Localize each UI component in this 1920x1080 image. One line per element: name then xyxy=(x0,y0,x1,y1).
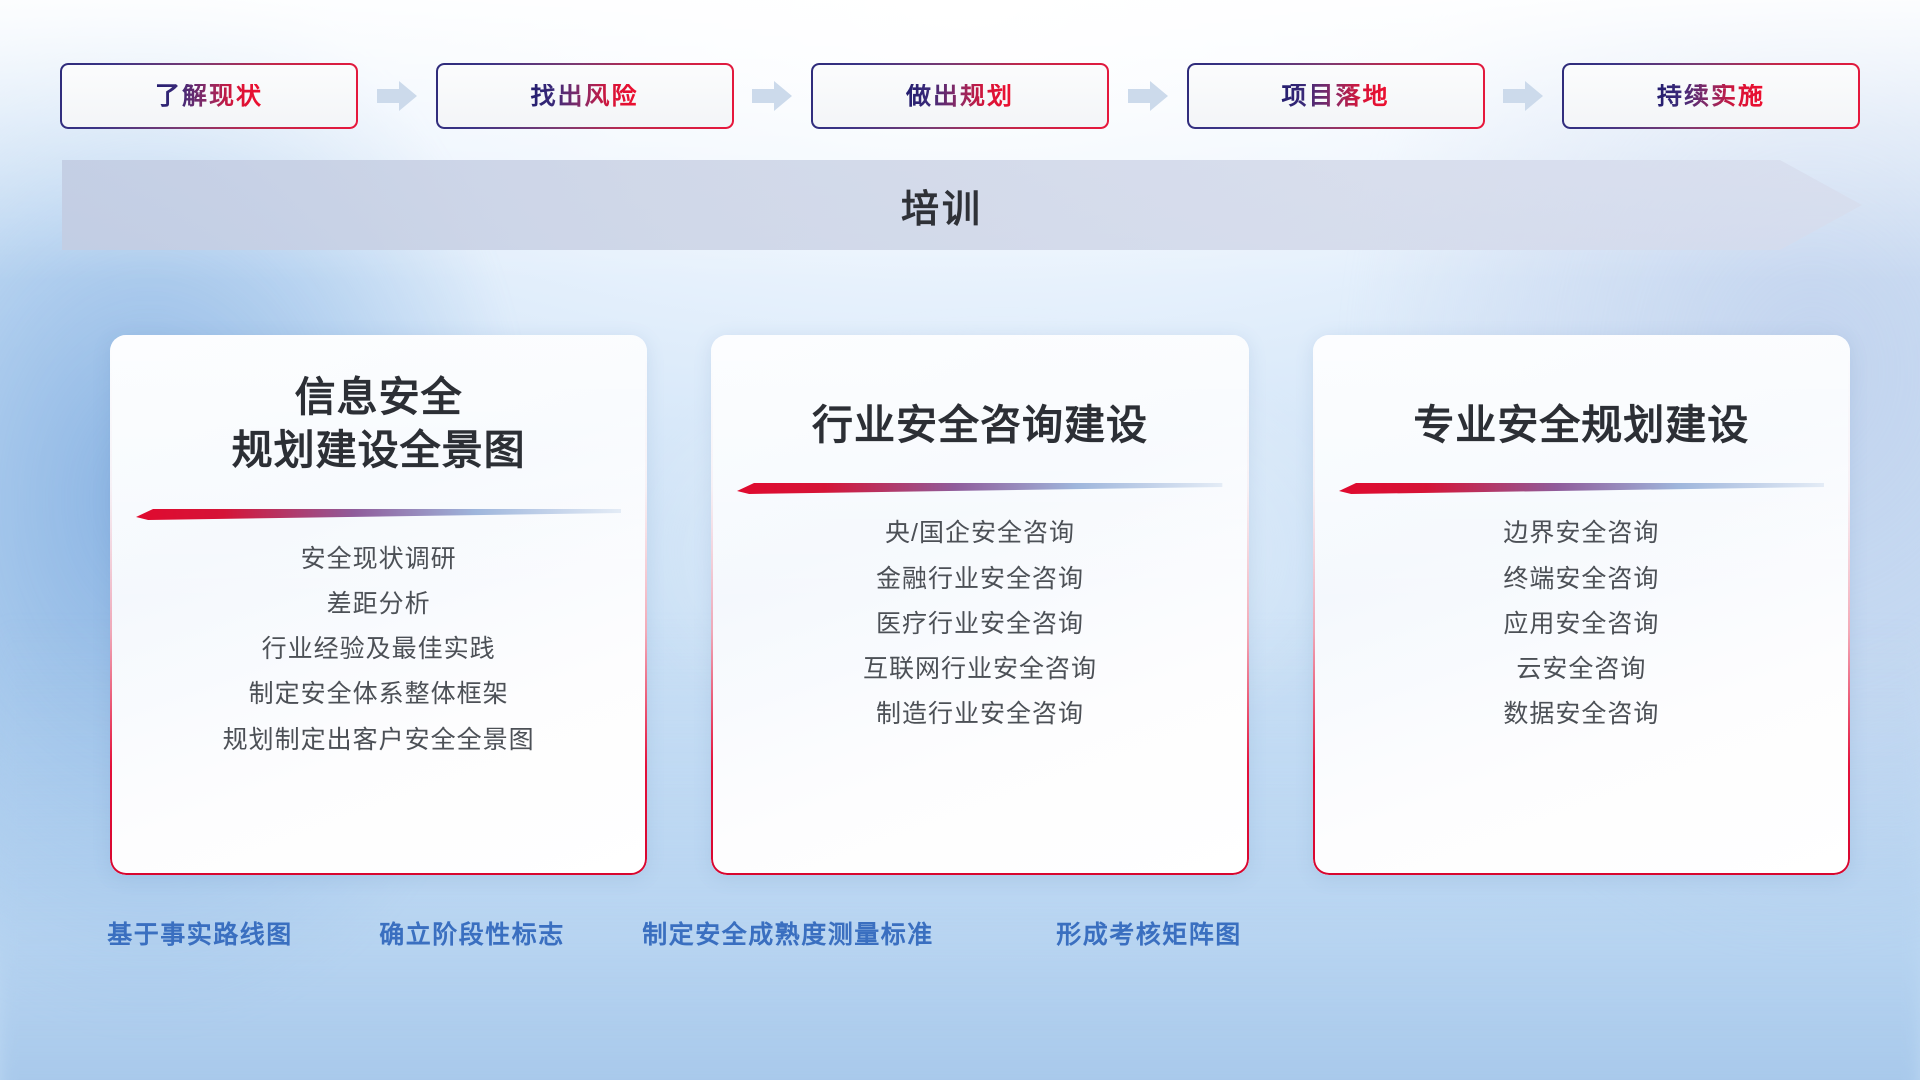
card-title: 行业安全咨询建设 xyxy=(812,371,1148,452)
list-item: 制造行业安全咨询 xyxy=(876,699,1084,730)
list-item: 医疗行业安全咨询 xyxy=(876,609,1084,640)
bottom-label-4: 形成考核矩阵图 xyxy=(1056,915,1242,951)
list-item: 边界安全咨询 xyxy=(1503,518,1659,549)
card-item-list: 央/国企安全咨询 金融行业安全咨询 医疗行业安全咨询 互联网行业安全咨询 制造行… xyxy=(737,518,1222,730)
bottom-label-2: 确立阶段性标志 xyxy=(379,915,565,951)
process-steps-row: 了解现状 找出风险 做出规划 项目落地 持续实施 xyxy=(60,62,1860,130)
list-item: 差距分析 xyxy=(327,589,431,620)
card-title: 专业安全规划建设 xyxy=(1413,371,1749,452)
step-box-5[interactable]: 持续实施 xyxy=(1562,63,1860,129)
card-divider xyxy=(737,480,1222,494)
card-professional-security-planning[interactable]: 专业安全规划建设 边界安全咨询 xyxy=(1313,335,1850,875)
list-item: 制定安全体系整体框架 xyxy=(249,679,509,710)
training-banner: 培训 xyxy=(62,160,1862,250)
card-item-list: 安全现状调研 差距分析 行业经验及最佳实践 制定安全体系整体框架 规划制定出客户… xyxy=(136,544,621,756)
bottom-label-3: 制定安全成熟度测量标准 xyxy=(642,915,934,951)
list-item: 规划制定出客户安全全景图 xyxy=(223,725,535,756)
step-label-5: 持续实施 xyxy=(1657,84,1765,109)
arrow-right-icon xyxy=(1503,79,1543,113)
list-item: 应用安全咨询 xyxy=(1503,609,1659,640)
cards-row: 信息安全 规划建设全景图 安全现状调研 xyxy=(110,335,1850,875)
step-label-3: 做出规划 xyxy=(906,84,1014,109)
card-item-list: 边界安全咨询 终端安全咨询 应用安全咨询 云安全咨询 数据安全咨询 xyxy=(1339,518,1824,730)
list-item: 央/国企安全咨询 xyxy=(885,518,1075,549)
card-divider xyxy=(1339,480,1824,494)
step-box-2[interactable]: 找出风险 xyxy=(436,63,734,129)
list-item: 互联网行业安全咨询 xyxy=(863,654,1097,685)
training-banner-label: 培训 xyxy=(62,160,1822,250)
step-label-1: 了解现状 xyxy=(155,84,263,109)
list-item: 安全现状调研 xyxy=(301,544,457,575)
step-label-2: 找出风险 xyxy=(530,84,638,109)
bottom-labels-row: 基于事实路线图 确立阶段性标志 制定安全成熟度测量标准 形成考核矩阵图 xyxy=(0,915,1920,961)
card-industry-security-consulting[interactable]: 行业安全咨询建设 央/国企安全咨询 xyxy=(711,335,1248,875)
step-box-4[interactable]: 项目落地 xyxy=(1187,63,1485,129)
arrow-right-icon xyxy=(1128,79,1168,113)
bottom-label-1: 基于事实路线图 xyxy=(107,915,293,951)
list-item: 金融行业安全咨询 xyxy=(876,564,1084,595)
step-box-3[interactable]: 做出规划 xyxy=(811,63,1109,129)
list-item: 行业经验及最佳实践 xyxy=(262,634,496,665)
card-title: 信息安全 规划建设全景图 xyxy=(232,371,526,478)
arrow-right-icon xyxy=(377,79,417,113)
step-box-1[interactable]: 了解现状 xyxy=(60,63,358,129)
card-divider xyxy=(136,506,621,520)
list-item: 数据安全咨询 xyxy=(1503,699,1659,730)
step-label-4: 项目落地 xyxy=(1281,84,1389,109)
list-item: 云安全咨询 xyxy=(1516,654,1646,685)
list-item: 终端安全咨询 xyxy=(1503,564,1659,595)
card-info-security-panorama[interactable]: 信息安全 规划建设全景图 安全现状调研 xyxy=(110,335,647,875)
arrow-right-icon xyxy=(752,79,792,113)
